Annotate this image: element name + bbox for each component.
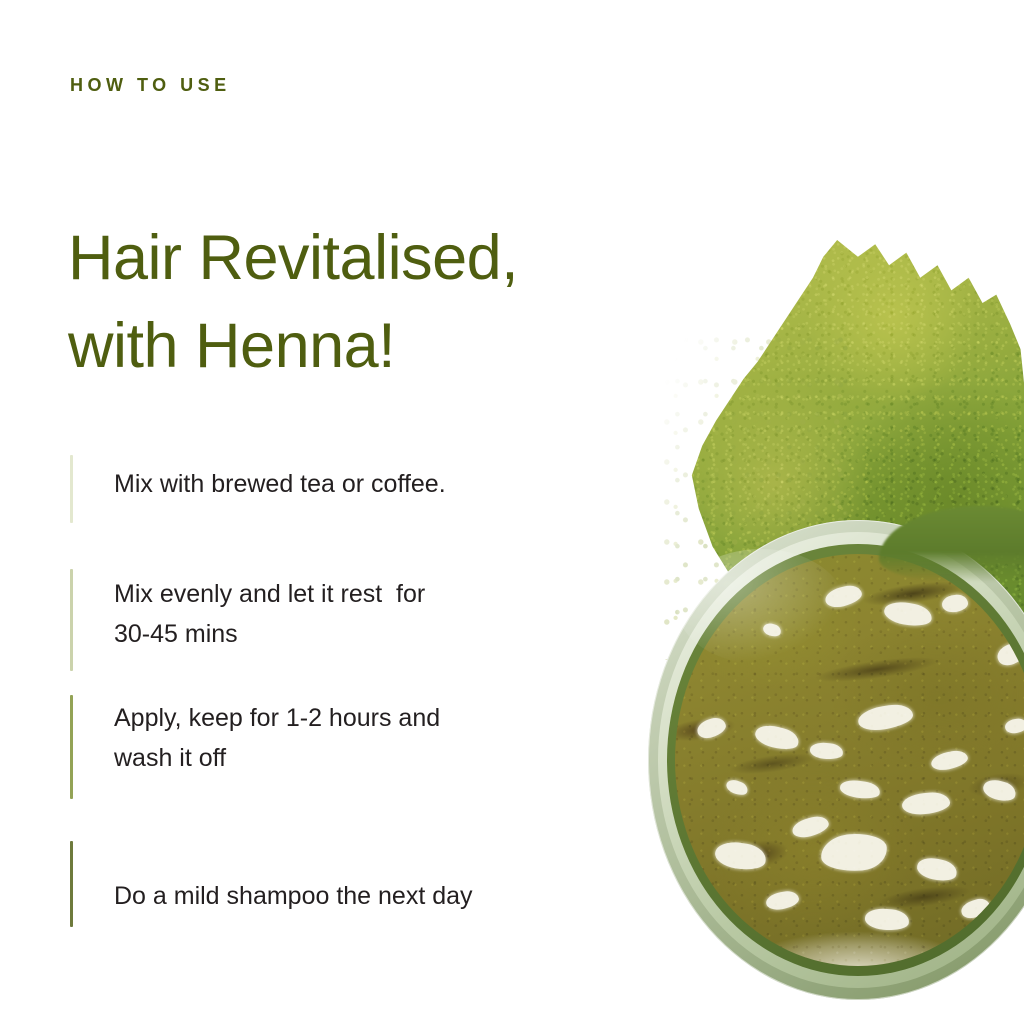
- bowl-inner-ring: [667, 544, 1024, 976]
- paste-grain-texture: [675, 554, 1024, 967]
- product-photo: [600, 210, 1024, 1024]
- step-text: Apply, keep for 1-2 hours and wash it of…: [114, 698, 540, 778]
- glass-bowl-image: [648, 520, 1024, 1000]
- step-text-line: Apply, keep for 1-2 hours and: [114, 698, 540, 738]
- steps-list: Mix with brewed tea or coffee. Mix evenl…: [70, 455, 540, 931]
- page-title: Hair Revitalised, with Henna!: [68, 214, 518, 390]
- page-title-line-1: Hair Revitalised,: [68, 214, 518, 302]
- powder-crumbs: [660, 330, 860, 660]
- page-title-line-2: with Henna!: [68, 302, 518, 390]
- step-text: Mix with brewed tea or coffee.: [114, 464, 540, 504]
- step-text: Mix evenly and let it rest for 30-45 min…: [114, 574, 540, 654]
- how-to-use-infographic: HOW TO USE Hair Revitalised, with Henna!…: [0, 0, 1024, 1024]
- list-item: Apply, keep for 1-2 hours and wash it of…: [70, 695, 540, 803]
- step-text-line: Do a mild shampoo the next day: [114, 876, 540, 916]
- bowl-specular-highlight: [677, 549, 845, 664]
- bowl-glass-body: [648, 520, 1024, 1000]
- powder-over-bowl-rim: [879, 506, 1024, 583]
- list-item: Mix with brewed tea or coffee.: [70, 455, 540, 531]
- eyebrow-label: HOW TO USE: [70, 74, 231, 96]
- list-item: Do a mild shampoo the next day: [70, 841, 540, 931]
- step-accent-bar: [70, 695, 73, 799]
- paste-dark-streaks: [675, 554, 1024, 967]
- list-item: Mix evenly and let it rest for 30-45 min…: [70, 569, 540, 675]
- henna-paste: [675, 554, 1024, 967]
- powder-grain-texture: [678, 240, 1024, 660]
- step-text: Do a mild shampoo the next day: [114, 876, 540, 916]
- henna-powder-mound-image: [678, 240, 1024, 660]
- bowl-rim: [658, 532, 1024, 987]
- paste-bottom-cream-band: [704, 884, 1012, 967]
- step-text-line: Mix with brewed tea or coffee.: [114, 464, 540, 504]
- step-accent-bar: [70, 569, 73, 671]
- step-text-line: 30-45 mins: [114, 614, 540, 654]
- step-accent-bar: [70, 455, 73, 523]
- step-text-line: wash it off: [114, 738, 540, 778]
- step-text-line: Mix evenly and let it rest for: [114, 574, 540, 614]
- step-accent-bar: [70, 841, 73, 927]
- paste-cream-patches: [675, 554, 1024, 967]
